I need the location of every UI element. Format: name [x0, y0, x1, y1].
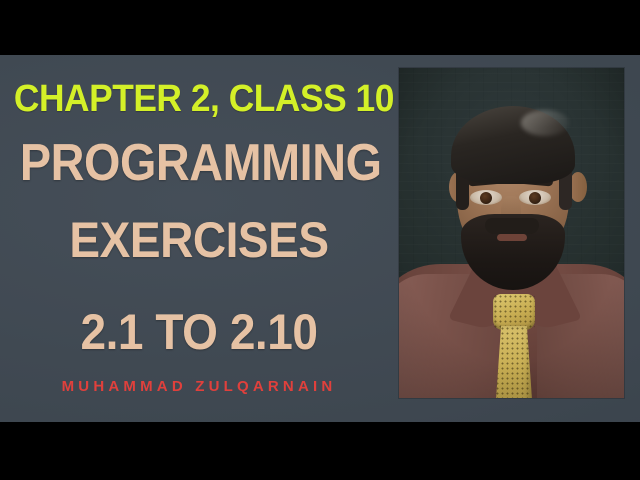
mustache	[485, 218, 539, 234]
video-thumbnail-frame: CHAPTER 2, CLASS 10 PROGRAMMING EXERCISE…	[0, 0, 640, 480]
presenter-photo	[399, 68, 624, 398]
author-byline: MUHAMMAD ZULQARNAIN	[0, 379, 398, 394]
eye-left	[470, 190, 502, 205]
chapter-heading: CHAPTER 2, CLASS 10	[14, 80, 384, 118]
letterbox-bar-top	[0, 0, 640, 55]
title-text-column: CHAPTER 2, CLASS 10 PROGRAMMING EXERCISE…	[0, 55, 398, 422]
mouth	[497, 234, 527, 241]
title-line-exercises: EXERCISES	[16, 215, 382, 265]
necktie-knot	[493, 294, 535, 330]
iris-right	[529, 192, 541, 204]
letterbox-bar-bottom	[0, 422, 640, 480]
eye-right	[519, 190, 551, 205]
slide-canvas: CHAPTER 2, CLASS 10 PROGRAMMING EXERCISE…	[0, 55, 640, 422]
necktie-pattern-body	[495, 326, 533, 398]
title-line-programming: PROGRAMMING	[20, 137, 378, 189]
iris-left	[480, 192, 492, 204]
necktie-body	[495, 326, 533, 398]
necktie-pattern-knot	[493, 294, 535, 330]
title-line-exercise-range: 2.1 TO 2.10	[16, 307, 382, 357]
